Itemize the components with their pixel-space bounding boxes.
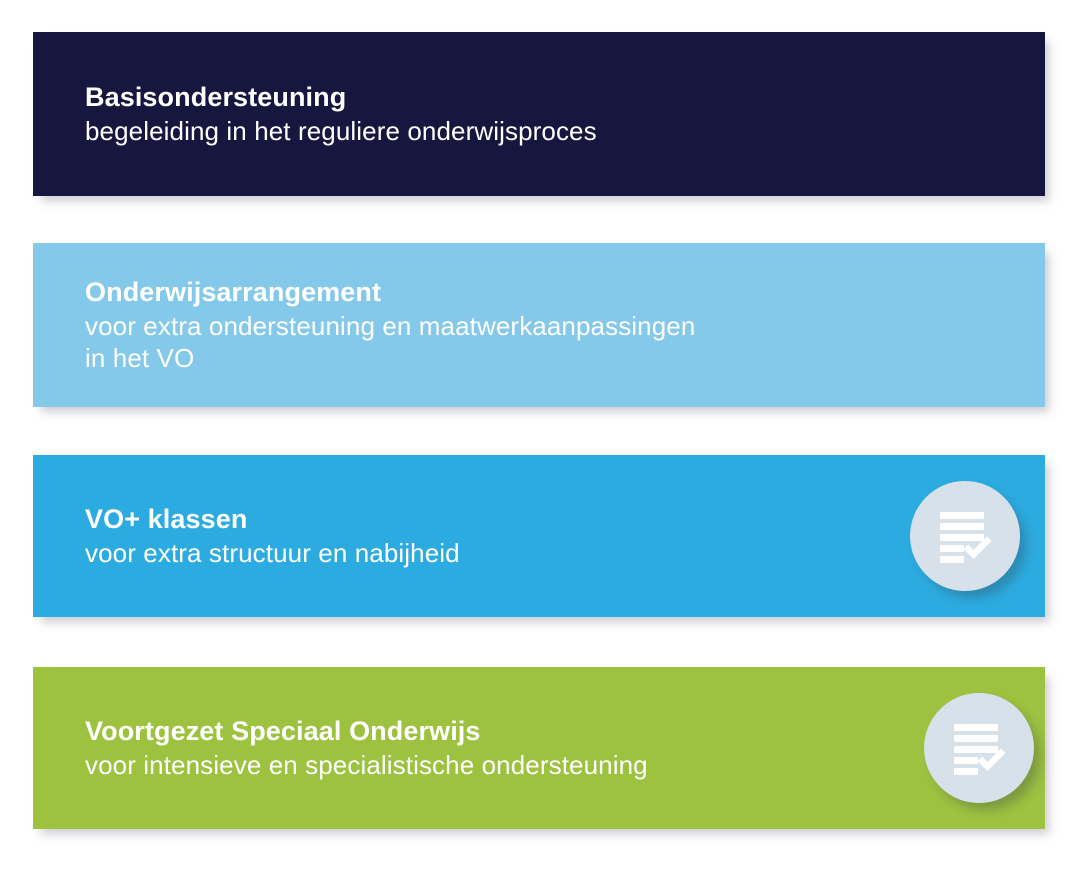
level-card-voortgezet-speciaal-onderwijs[interactable]: Voortgezet Speciaal Onderwijs voor inten… [33, 667, 1045, 829]
level-title: Voortgezet Speciaal Onderwijs [85, 715, 648, 748]
level-subtitle-line: voor extra ondersteuning en maatwerkaanp… [85, 310, 695, 342]
icon-slot [885, 667, 1045, 829]
level-card-onderwijsarrangement[interactable]: Onderwijsarrangement voor extra onderste… [33, 243, 1045, 407]
level-subtitle: voor extra ondersteuning en maatwerkaanp… [85, 310, 695, 374]
document-checklist-icon [910, 481, 1020, 591]
document-checklist-icon [924, 693, 1034, 803]
level-card-vo-plus-klassen[interactable]: VO+ klassen voor extra structuur en nabi… [33, 455, 1045, 617]
level-card-text: VO+ klassen voor extra structuur en nabi… [85, 503, 470, 569]
level-title: Onderwijsarrangement [85, 276, 695, 309]
level-subtitle-line: in het VO [85, 342, 695, 374]
level-title: VO+ klassen [85, 503, 460, 536]
level-card-text: Basisondersteuning begeleiding in het re… [85, 81, 607, 147]
level-card-text: Onderwijsarrangement voor extra onderste… [85, 276, 705, 374]
level-title: Basisondersteuning [85, 81, 597, 114]
level-subtitle: begeleiding in het reguliere onderwijspr… [85, 115, 597, 147]
level-card-text: Voortgezet Speciaal Onderwijs voor inten… [85, 715, 658, 781]
ondersteuningsniveaus-diagram: Basisondersteuning begeleiding in het re… [0, 0, 1080, 870]
level-card-basisondersteuning[interactable]: Basisondersteuning begeleiding in het re… [33, 32, 1045, 196]
level-subtitle-line: voor extra structuur en nabijheid [85, 537, 460, 569]
level-subtitle-line: voor intensieve en specialistische onder… [85, 749, 648, 781]
level-subtitle-line: begeleiding in het reguliere onderwijspr… [85, 115, 597, 147]
level-subtitle: voor extra structuur en nabijheid [85, 537, 460, 569]
level-subtitle: voor intensieve en specialistische onder… [85, 749, 648, 781]
icon-slot [885, 455, 1045, 617]
